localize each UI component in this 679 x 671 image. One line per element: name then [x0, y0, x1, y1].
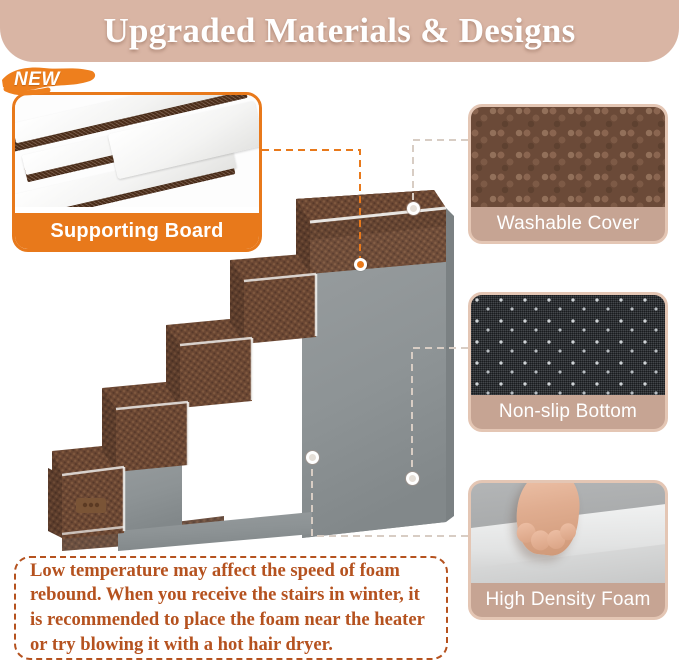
infographic-page: Upgraded Materials & Designs	[0, 0, 679, 671]
connector-dot-washable-cover	[407, 202, 420, 215]
connector-dot-high-density-foam	[306, 451, 319, 464]
new-badge: NEW	[0, 62, 100, 102]
connector-dot-supporting-board	[354, 258, 367, 271]
connector-lines	[0, 0, 679, 671]
new-badge-text: NEW	[14, 69, 60, 91]
connector-dot-non-slip-bottom	[406, 472, 419, 485]
